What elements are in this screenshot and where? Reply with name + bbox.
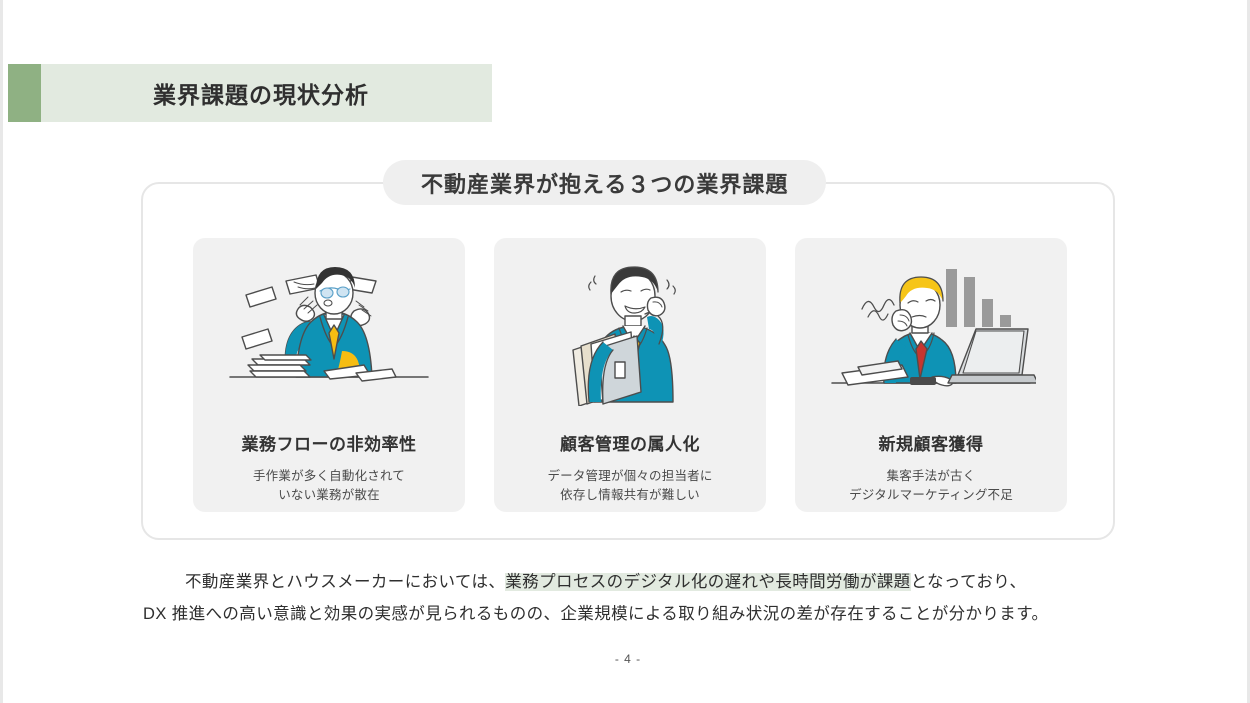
summary-paragraph: 不動産業界とハウスメーカーにおいては、業務プロセスのデジタル化の遅れや長時間労働…	[143, 566, 1113, 630]
card-title: 顧客管理の属人化	[560, 430, 700, 455]
page-number: - 4 -	[3, 652, 1250, 666]
summary-text-before: 不動産業界とハウスメーカーにおいては、	[185, 573, 505, 591]
businessman-phone-files-icon	[514, 250, 746, 410]
card-description-line1: 集客手法が古く	[887, 469, 976, 483]
businessman-papers-flying-icon	[213, 250, 445, 410]
card-description-line2: デジタルマーケティング不足	[849, 488, 1013, 502]
card-title: 業務フローの非効率性	[242, 430, 417, 455]
businessman-laptop-declining-chart-icon	[815, 250, 1047, 410]
card-description-line2: いない業務が散在	[278, 488, 380, 502]
cards-row: 業務フローの非効率性 手作業が多く自動化されて いない業務が散在	[193, 238, 1067, 512]
summary-line-1: 不動産業界とハウスメーカーにおいては、業務プロセスのデジタル化の遅れや長時間労働…	[143, 566, 1113, 598]
card-description-line1: 手作業が多く自動化されて	[253, 469, 405, 483]
summary-highlight: 業務プロセスのデジタル化の遅れや長時間労働が課題	[505, 573, 910, 591]
page-title: 業界課題の現状分析	[153, 64, 369, 122]
card-description-line1: データ管理が個々の担当者に	[547, 469, 712, 483]
card-description: 手作業が多く自動化されて いない業務が散在	[253, 467, 405, 506]
header-accent-bar	[8, 64, 41, 122]
card-description: データ管理が個々の担当者に 依存し情報共有が難しい	[547, 467, 712, 506]
issue-card-3[interactable]: 新規顧客獲得 集客手法が古く デジタルマーケティング不足	[795, 238, 1067, 512]
card-description-line2: 依存し情報共有が難しい	[560, 488, 700, 502]
panel-heading: 不動産業界が抱える３つの業界課題	[383, 160, 826, 205]
card-description: 集客手法が古く デジタルマーケティング不足	[849, 467, 1013, 506]
slide: 業界課題の現状分析 不動産業界が抱える３つの業界課題	[0, 0, 1250, 703]
summary-text-after: となっており、	[911, 573, 1027, 591]
issue-card-2[interactable]: 顧客管理の属人化 データ管理が個々の担当者に 依存し情報共有が難しい	[494, 238, 766, 512]
issue-card-1[interactable]: 業務フローの非効率性 手作業が多く自動化されて いない業務が散在	[193, 238, 465, 512]
summary-line-2: DX 推進への高い意識と効果の実感が見られるものの、企業規模による取り組み状況の…	[143, 598, 1113, 630]
card-title: 新規顧客獲得	[879, 430, 984, 455]
